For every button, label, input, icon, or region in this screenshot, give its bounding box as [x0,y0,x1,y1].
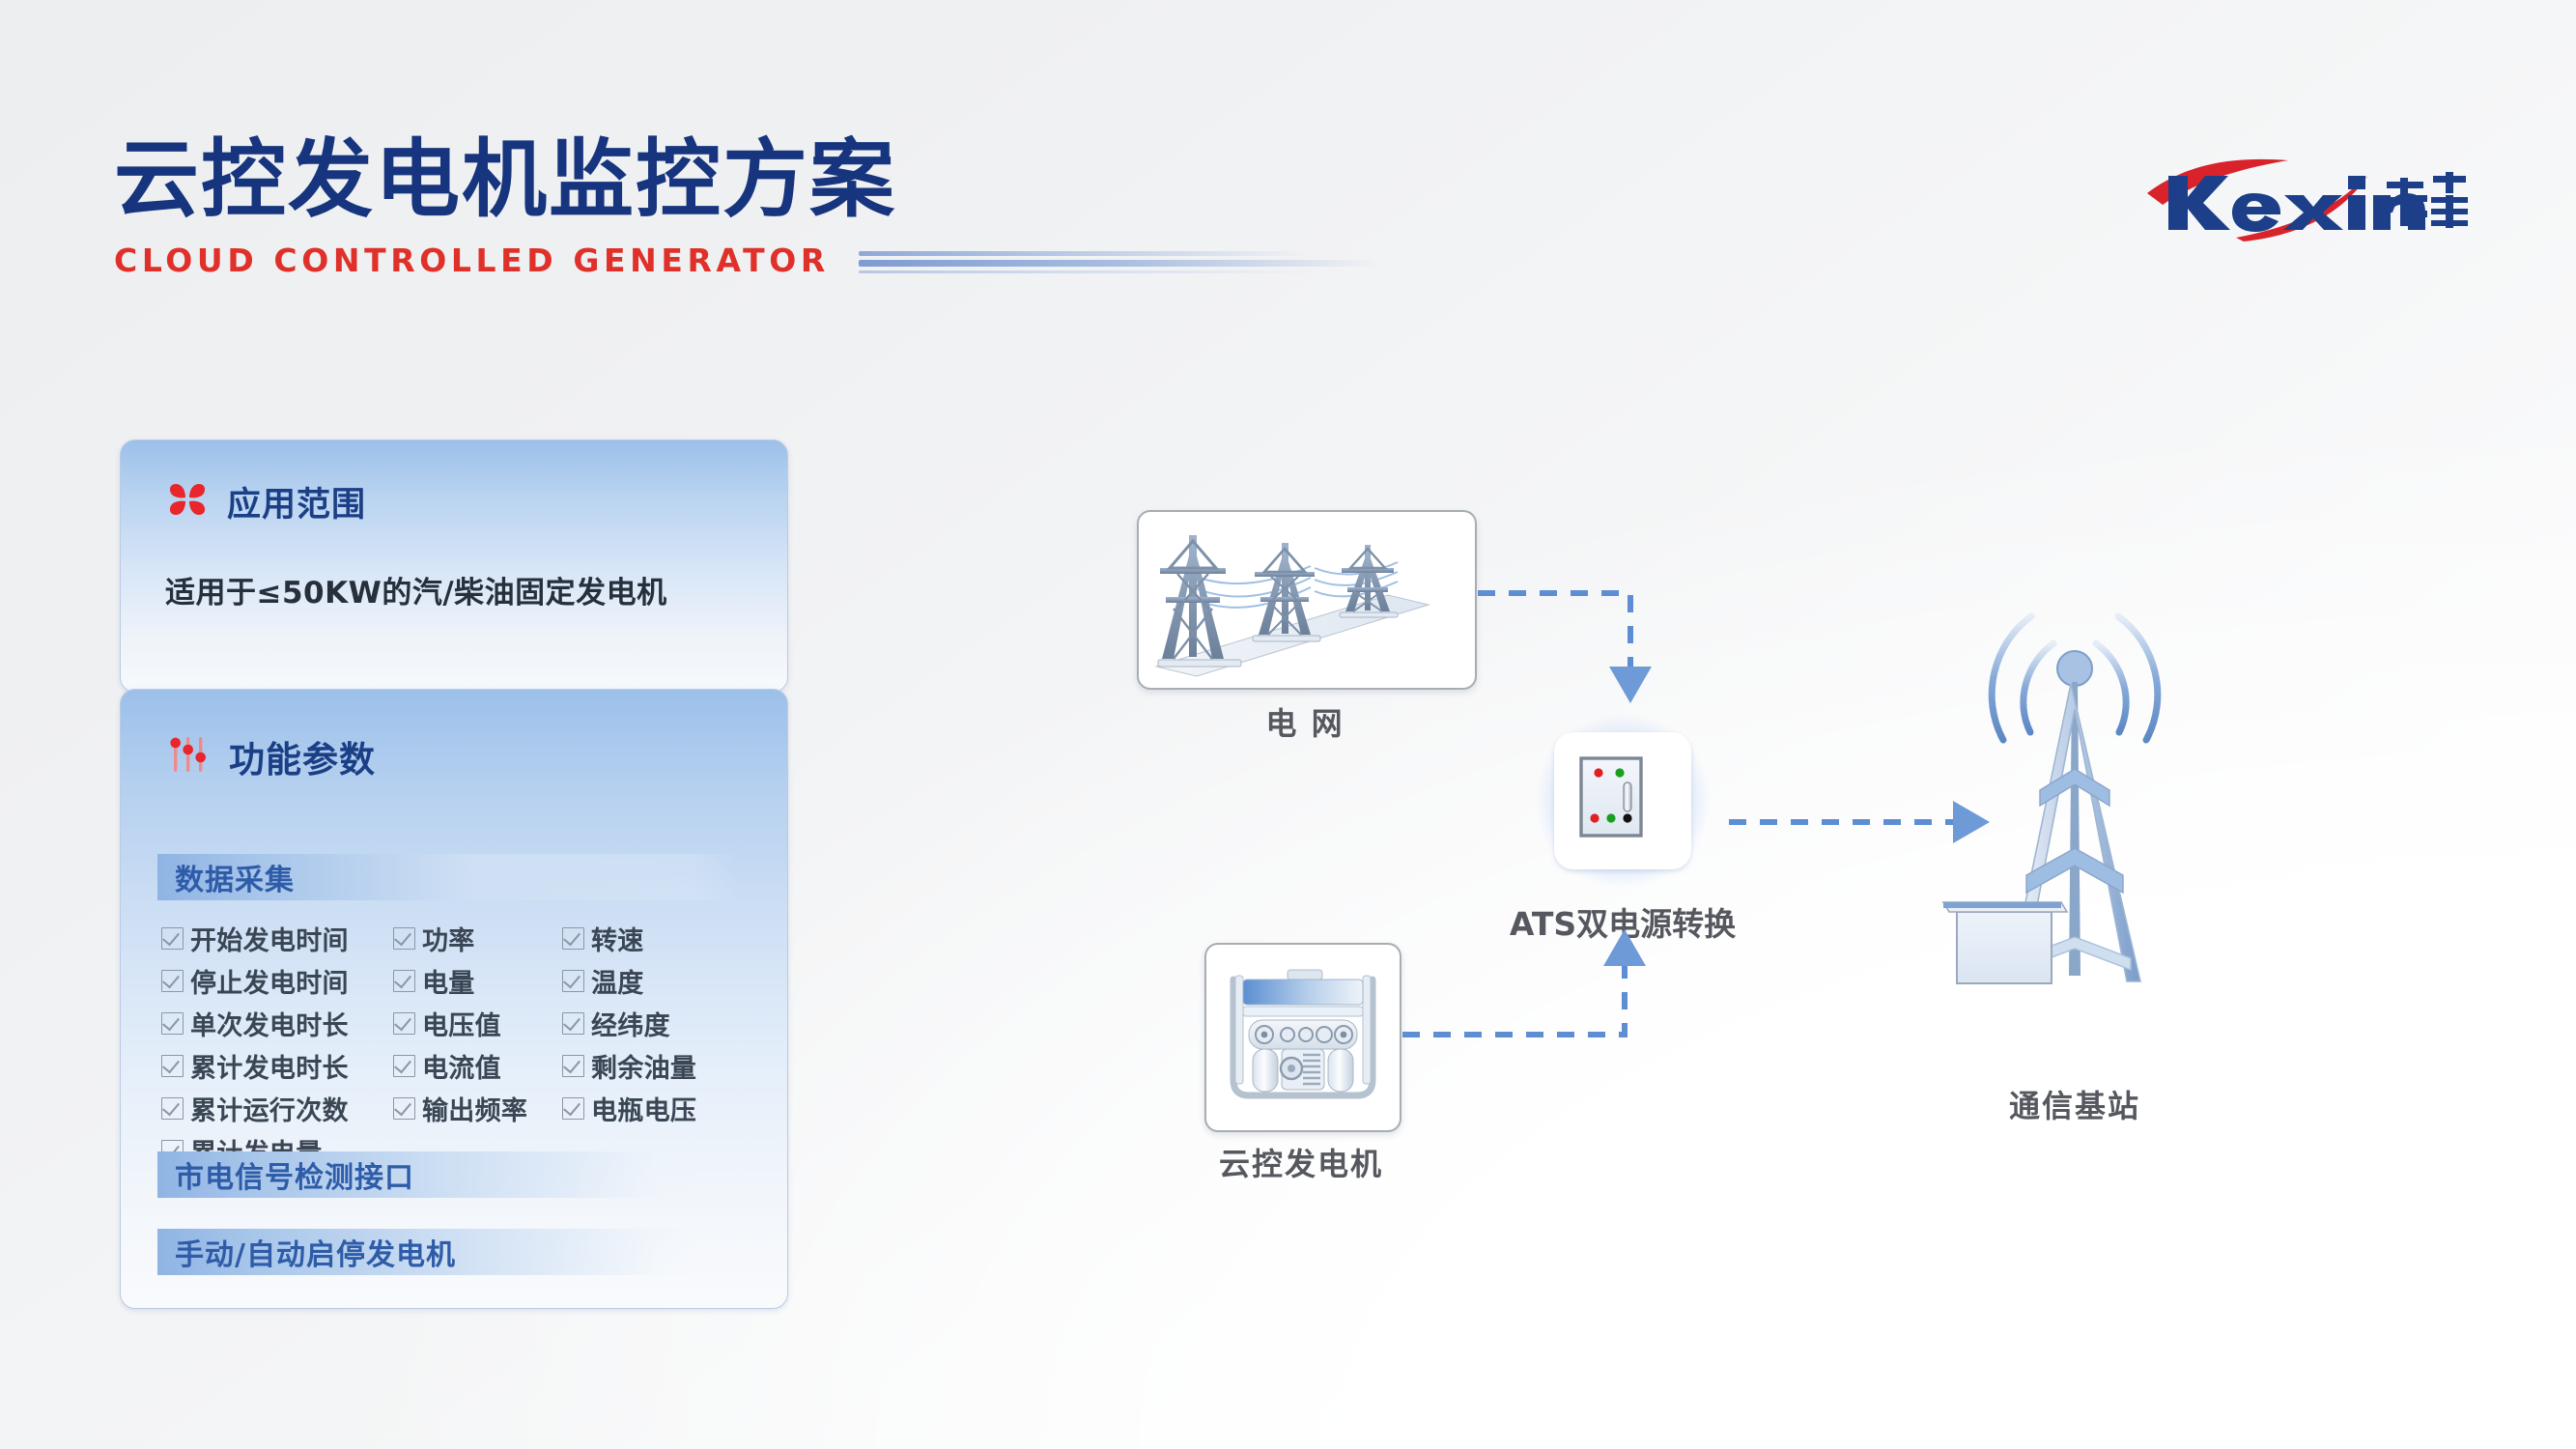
led-green-top [1615,768,1624,777]
led-red-top [1594,768,1602,777]
slide-canvas: 云控发电机监控方案 CLOUD CONTROLLED GENERATOR [0,0,2576,1449]
kexin-logo [2143,155,2472,245]
node-generator[interactable] [1204,943,1401,1132]
checklist-item[interactable]: 累计发电时长 [161,1047,393,1090]
tower-beacon [2057,651,2092,686]
cell-tower-icon [1930,589,2220,1043]
checkbox-icon[interactable] [393,927,415,950]
led-red-bottom [1590,813,1599,822]
checklist-item[interactable]: 剩余油量 [562,1047,746,1090]
arrowhead-down [1609,667,1652,703]
section-bar-mains-signal: 市电信号检测接口 [157,1151,698,1198]
function-parameters-card: 功能参数 数据采集 开始发电时间 功率 转速 停止发电时间 电量 温度 单次发电… [120,689,788,1309]
switch-lever [1624,782,1631,811]
application-scope-heading: 应用范围 [227,477,366,526]
checklist-item[interactable]: 单次发电时长 [161,1005,393,1047]
subtitle-row: CLOUD CONTROLLED GENERATOR [114,241,1400,279]
checkbox-icon[interactable] [393,970,415,992]
application-scope-header: 应用范围 [167,477,366,526]
checklist-label: 电瓶电压 [591,1090,696,1127]
checkbox-icon[interactable] [562,970,584,992]
node-ats[interactable] [1535,713,1711,889]
section-label-data-collection: 数据采集 [175,856,295,898]
equipment-building [1957,912,2052,983]
ats-switch-panel-icon [1535,713,1711,889]
checkbox-icon[interactable] [562,1055,584,1077]
checklist-item[interactable]: 输出频率 [393,1090,562,1132]
checkbox-icon[interactable] [161,1097,184,1120]
node-label-ats: ATS双电源转换 [1487,898,1758,945]
application-scope-body: 适用于≤50KW的汽/柴油固定发电机 [165,568,667,611]
checkbox-icon[interactable] [562,1012,584,1035]
checkbox-icon[interactable] [161,970,184,992]
node-power-grid[interactable] [1137,510,1477,690]
checklist-label: 经纬度 [591,1005,670,1042]
checklist-item[interactable]: 经纬度 [562,1005,746,1047]
checkbox-icon[interactable] [393,1012,415,1035]
section-label-mains-signal: 市电信号检测接口 [175,1153,414,1196]
checklist-label: 电量 [422,962,475,1000]
checklist-label: 剩余油量 [591,1047,696,1085]
data-collection-checklist: 开始发电时间 功率 转速 停止发电时间 电量 温度 单次发电时长 电压值 经纬度… [161,920,750,1175]
checklist-item[interactable]: 电压值 [393,1005,562,1047]
section-label-manual-auto: 手动/自动启停发电机 [175,1231,456,1273]
checklist-item[interactable]: 电流值 [393,1047,562,1090]
signal-waves-left [1992,616,2053,740]
checkbox-icon[interactable] [562,1097,584,1120]
checklist-label: 累计发电时长 [190,1047,349,1085]
led-green-bottom [1606,813,1615,822]
checkbox-icon[interactable] [393,1097,415,1120]
checklist-item[interactable]: 电量 [393,962,562,1005]
checkbox-icon[interactable] [393,1055,415,1077]
checklist-label: 停止发电时间 [190,962,349,1000]
checkbox-icon[interactable] [161,1055,184,1077]
checklist-label: 单次发电时长 [190,1005,349,1042]
page-title: 云控发电机监控方案 [114,135,1400,224]
generator-icon [1206,945,1400,1130]
sliders-icon [167,733,210,781]
checklist-label: 累计运行次数 [190,1090,349,1127]
checklist-item[interactable]: 电瓶电压 [562,1090,746,1132]
function-parameters-header: 功能参数 [167,730,376,782]
section-bar-data-collection: 数据采集 [157,854,737,900]
node-label-base-station: 通信基站 [1901,1082,2249,1126]
checklist-item[interactable]: 功率 [393,920,562,962]
checklist-label: 电压值 [422,1005,501,1042]
section-bar-manual-auto: 手动/自动启停发电机 [157,1229,698,1275]
node-label-power-grid: 电 网 [1137,699,1473,744]
page-subtitle: CLOUD CONTROLLED GENERATOR [114,241,830,279]
connector-generator-to-ats [1402,929,1646,1035]
connector-grid-to-ats [1478,593,1652,703]
power-grid-towers-icon [1139,512,1475,688]
signal-waves-right [2096,616,2158,740]
checkbox-icon[interactable] [161,1012,184,1035]
checklist-item[interactable]: 累计运行次数 [161,1090,393,1132]
checklist-item[interactable]: 停止发电时间 [161,962,393,1005]
checklist-item[interactable]: 转速 [562,920,746,962]
checklist-item[interactable]: 开始发电时间 [161,920,393,962]
checklist-label: 输出频率 [422,1090,527,1127]
clover-flower-icon [167,479,208,525]
node-label-generator: 云控发电机 [1146,1140,1456,1184]
checklist-label: 开始发电时间 [190,920,349,957]
function-parameters-heading: 功能参数 [229,730,376,782]
checklist-label: 温度 [591,962,644,1000]
checkbox-icon[interactable] [562,927,584,950]
checkbox-icon[interactable] [161,927,184,950]
checklist-label: 功率 [422,920,475,957]
node-base-station[interactable] [1930,589,2220,1043]
led-black-bottom [1623,813,1631,822]
application-scope-card: 应用范围 适用于≤50KW的汽/柴油固定发电机 [120,440,788,693]
logo-svg [2143,155,2472,245]
decorative-lines [859,246,1400,279]
checklist-label: 电流值 [422,1047,501,1085]
page-header: 云控发电机监控方案 CLOUD CONTROLLED GENERATOR [114,135,1400,279]
checklist-label: 转速 [591,920,644,957]
checklist-item[interactable]: 温度 [562,962,746,1005]
